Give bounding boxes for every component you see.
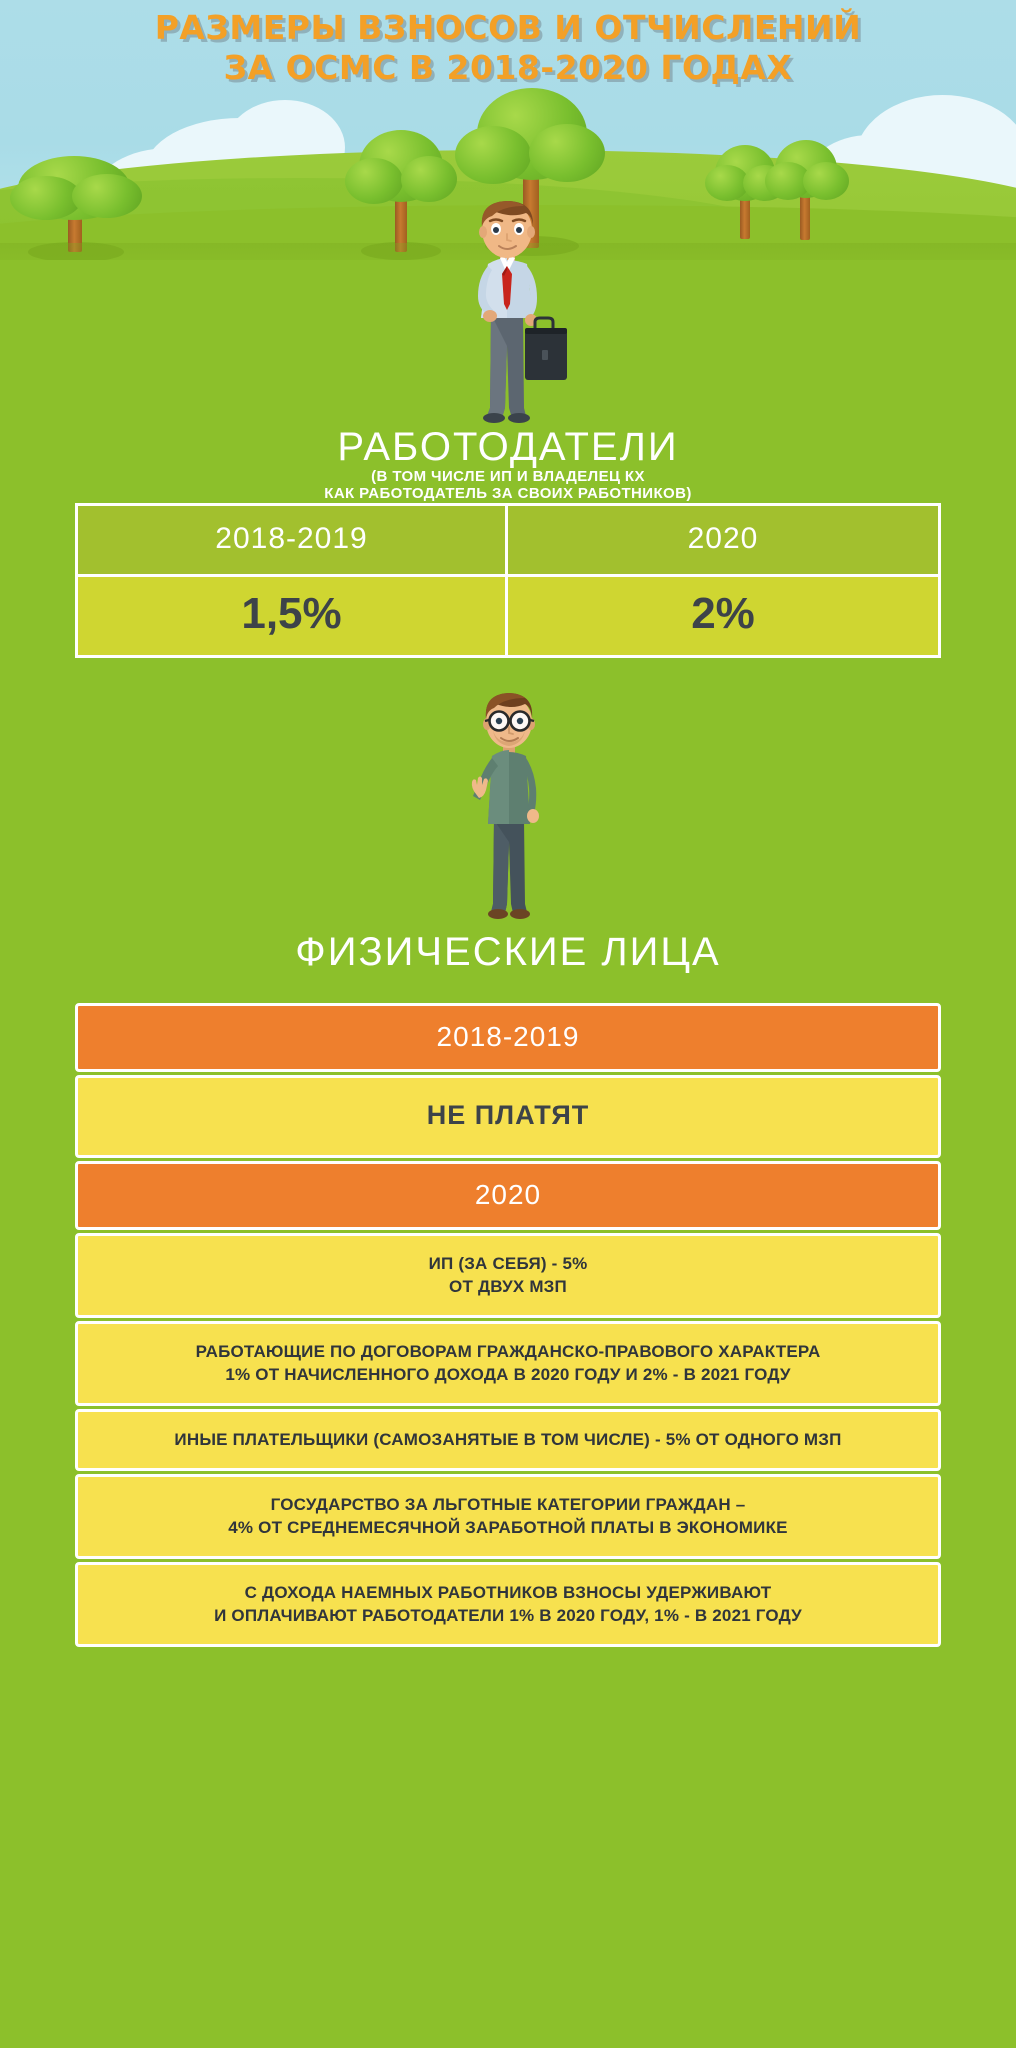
individual-person-svg xyxy=(412,690,604,928)
employers-value-2018-2019: 1,5% xyxy=(78,574,508,655)
detail-line-2: 1% ОТ НАЧИСЛЕННОГО ДОХОДА В 2020 ГОДУ И … xyxy=(92,1363,924,1386)
individuals-rates-table: 2018-2019 НЕ ПЛАТЯТ 2020 ИП (ЗА СЕБЯ) - … xyxy=(75,1003,941,1650)
detail-line-1: С ДОХОДА НАЕМНЫХ РАБОТНИКОВ ВЗНОСЫ УДЕРЖ… xyxy=(92,1581,924,1604)
individuals-row-other-payers: ИНЫЕ ПЛАТЕЛЬЩИКИ (САМОЗАНЯТЫЕ В ТОМ ЧИСЛ… xyxy=(75,1409,941,1471)
table-row: 2018-2019 2020 xyxy=(78,506,938,574)
table-row: 1,5% 2% xyxy=(78,574,938,655)
individuals-row-civil-contracts: РАБОТАЮЩИЕ ПО ДОГОВОРАМ ГРАЖДАНСКО-ПРАВО… xyxy=(75,1321,941,1406)
tree-foliage xyxy=(803,162,849,200)
detail-line-2: 4% ОТ СРЕДНЕМЕСЯЧНОЙ ЗАРАБОТНОЙ ПЛАТЫ В … xyxy=(92,1516,924,1539)
page-title: РАЗМЕРЫ ВЗНОСОВ И ОТЧИСЛЕНИЙ ЗА ОСМС В 2… xyxy=(0,8,1016,88)
employers-section-subtitle: (В ТОМ ЧИСЛЕ ИП И ВЛАДЕЛЕЦ КХ КАК РАБОТО… xyxy=(0,468,1016,502)
detail-line-1: ИНЫЕ ПЛАТЕЛЬЩИКИ (САМОЗАНЯТЫЕ В ТОМ ЧИСЛ… xyxy=(92,1428,924,1451)
tree-right-small-2 xyxy=(765,140,845,252)
tree-foliage xyxy=(529,124,605,182)
individuals-row-state-privileged: ГОСУДАРСТВО ЗА ЛЬГОТНЫЕ КАТЕГОРИИ ГРАЖДА… xyxy=(75,1474,941,1559)
detail-line-1: РАБОТАЮЩИЕ ПО ДОГОВОРАМ ГРАЖДАНСКО-ПРАВО… xyxy=(92,1340,924,1363)
employers-subtitle-line-1: (В ТОМ ЧИСЛЕ ИП И ВЛАДЕЛЕЦ КХ xyxy=(0,468,1016,485)
individuals-section-title: ФИЗИЧЕСКИЕ ЛИЦА xyxy=(0,930,1016,975)
page-title-line-1: РАЗМЕРЫ ВЗНОСОВ И ОТЧИСЛЕНИЙ xyxy=(0,8,1016,48)
detail-line-2: И ОПЛАЧИВАЮТ РАБОТОДАТЕЛИ 1% В 2020 ГОДУ… xyxy=(92,1604,924,1627)
employers-header-2018-2019: 2018-2019 xyxy=(78,506,508,574)
page-title-line-2: ЗА ОСМС В 2018-2020 ГОДАХ xyxy=(0,48,1016,88)
tree-foliage xyxy=(455,126,531,184)
employers-section-title: РАБОТОДАТЕЛИ xyxy=(0,425,1016,470)
individuals-row-ip-self: ИП (ЗА СЕБЯ) - 5% ОТ ДВУХ МЗП xyxy=(75,1233,941,1318)
employers-rates-table: 2018-2019 2020 1,5% 2% xyxy=(75,503,941,658)
detail-line-2: ОТ ДВУХ МЗП xyxy=(92,1275,924,1298)
employers-subtitle-line-2: КАК РАБОТОДАТЕЛЬ ЗА СВОИХ РАБОТНИКОВ) xyxy=(0,485,1016,502)
detail-line-1: ИП (ЗА СЕБЯ) - 5% xyxy=(92,1252,924,1275)
individuals-row-header-2020: 2020 xyxy=(75,1161,941,1230)
individuals-row-not-paying: НЕ ПЛАТЯТ xyxy=(75,1075,941,1158)
tree-foliage xyxy=(72,174,142,218)
detail-line-1: ГОСУДАРСТВО ЗА ЛЬГОТНЫЕ КАТЕГОРИИ ГРАЖДА… xyxy=(92,1493,924,1516)
employers-value-2020: 2% xyxy=(508,574,938,655)
individual-person-illustration xyxy=(412,690,604,928)
businessman-illustration xyxy=(352,196,664,436)
individuals-row-header-2018-2019: 2018-2019 xyxy=(75,1003,941,1072)
businessman-svg xyxy=(352,196,664,436)
employers-header-2020: 2020 xyxy=(508,506,938,574)
individuals-row-employee-withholding: С ДОХОДА НАЕМНЫХ РАБОТНИКОВ ВЗНОСЫ УДЕРЖ… xyxy=(75,1562,941,1647)
